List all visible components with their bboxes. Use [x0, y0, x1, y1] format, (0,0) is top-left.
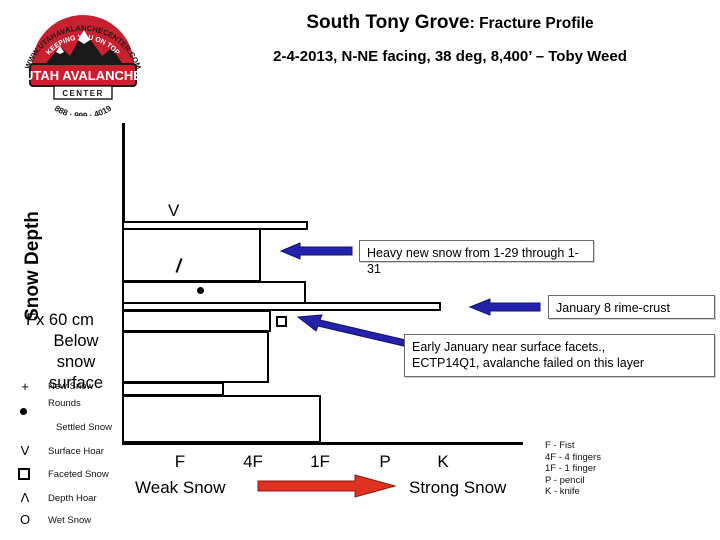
- weak-snow-label: Weak Snow: [135, 478, 225, 498]
- hardness-key-line-3: 1F - 1 finger: [545, 463, 601, 475]
- legend-label-rounds: Rounds: [48, 398, 81, 410]
- grain-symbol-rounds: [197, 287, 204, 294]
- plus-icon: +: [14, 380, 36, 394]
- legend-item-surface-hoar: V Surface Hoar: [8, 442, 148, 462]
- hardness-key-line-2: 4F - 4 fingers: [545, 452, 601, 464]
- caret-up-icon: Λ: [14, 491, 36, 505]
- legend-label-wet-snow: Wet Snow: [48, 515, 91, 527]
- hardness-key-line-5: K - knife: [545, 486, 601, 498]
- layer-near-surface-facets: [122, 310, 271, 332]
- grain-symbol-faceted-snow: [276, 316, 287, 327]
- circle-outline-icon: O: [14, 513, 36, 527]
- legend-label-settled-snow: Settled Snow: [56, 422, 112, 434]
- legend-item-depth-hoar: Λ Depth Hoar: [8, 490, 148, 510]
- callout-facets-line-2: ECTP14Q1, avalanche failed on this layer: [412, 355, 707, 371]
- callout-rime-crust-text: January 8 rime-crust: [556, 301, 670, 315]
- fx-note-line-3: snow: [26, 352, 126, 373]
- layer-basal: [122, 395, 321, 443]
- legend-label-faceted-snow: Faceted Snow: [48, 469, 109, 481]
- callout-facets-line-1: Early January near surface facets.,: [412, 339, 707, 355]
- square-outline-icon: [18, 468, 30, 480]
- strong-snow-label: Strong Snow: [409, 478, 506, 498]
- layer-new-snow: [122, 228, 261, 282]
- filled-circle-icon: [20, 408, 27, 415]
- legend-item-new-snow: + New Snow: [8, 380, 148, 400]
- callout-rime-crust: January 8 rime-crust: [548, 295, 715, 319]
- legend-item-rounds: Rounds: [8, 400, 148, 420]
- callout-heavy-new-snow: Heavy new snow from 1-29 through 1-31: [359, 240, 594, 262]
- layer-settled-snow: [122, 281, 306, 304]
- legend-item-wet-snow: O Wet Snow: [8, 512, 148, 532]
- x-tick-f: F: [160, 452, 200, 472]
- legend-item-faceted-snow: Faceted Snow: [8, 467, 148, 487]
- legend-label-depth-hoar: Depth Hoar: [48, 493, 97, 505]
- hardness-key-line-4: P - pencil: [545, 475, 601, 487]
- x-tick-k: K: [423, 452, 463, 472]
- legend-label-new-snow: New Snow: [48, 381, 93, 393]
- legend-label-surface-hoar: Surface Hoar: [48, 446, 104, 458]
- legend-item-settled-snow: Settled Snow: [8, 418, 148, 438]
- fx-note-line-2: Below: [26, 331, 126, 352]
- x-tick-p: P: [365, 452, 405, 472]
- grain-symbol-surface-hoar: V: [168, 202, 179, 219]
- callout-near-surface-facets: Early January near surface facets., ECTP…: [404, 334, 715, 377]
- hardness-key: F - Fist 4F - 4 fingers 1F - 1 finger P …: [545, 440, 601, 498]
- layer-mid-pack: [122, 331, 269, 383]
- vee-icon: V: [14, 444, 36, 458]
- x-tick-1f: 1F: [300, 452, 340, 472]
- hardness-key-line-1: F - Fist: [545, 440, 601, 452]
- fx-note-line-1: Fx 60 cm: [26, 310, 126, 331]
- x-tick-4f: 4F: [233, 452, 273, 472]
